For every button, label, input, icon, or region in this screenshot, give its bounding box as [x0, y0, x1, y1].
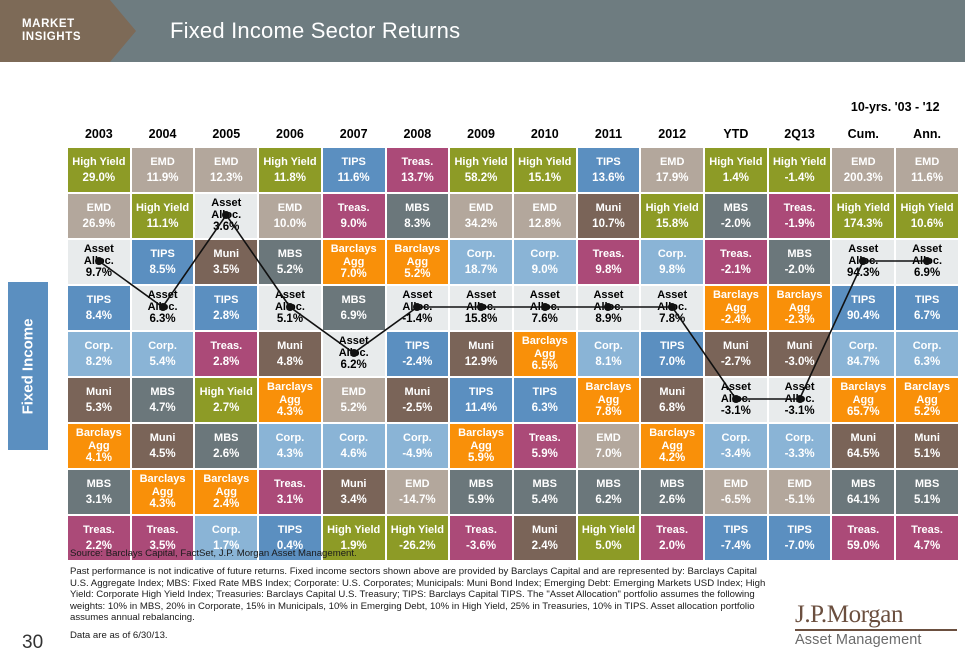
- cell-sector-name: MBS: [450, 478, 512, 491]
- cell-2007-5: AssetAlloc.6.2%: [323, 332, 385, 376]
- cell-2008-2: MBS8.3%: [387, 194, 449, 238]
- cell-return-value: 13.7%: [387, 172, 449, 185]
- cell-sector-name: BarclaysAgg: [68, 427, 130, 452]
- cell-sector-name: High Yield: [132, 202, 194, 215]
- cell-sector-name: BarclaysAgg: [132, 473, 194, 498]
- cell-sector-name: Muni: [132, 432, 194, 445]
- cell-YTD-3: Treas.-2.1%: [705, 240, 767, 284]
- table-row: High Yield29.0%EMD11.9%EMD12.3%High Yiel…: [68, 148, 958, 192]
- cell-sector-name: Corp.: [132, 340, 194, 353]
- column-header-ytd: YTD: [705, 117, 767, 146]
- cell-return-value: 8.4%: [68, 310, 130, 323]
- cell-return-value: 9.7%: [68, 267, 130, 280]
- cell-sector-name: TIPS: [514, 386, 576, 399]
- column-header-2q13: 2Q13: [769, 117, 831, 146]
- cell-2006-3: MBS5.2%: [259, 240, 321, 284]
- cell-2008-7: Corp.-4.9%: [387, 424, 449, 468]
- cell-return-value: 5.3%: [68, 402, 130, 415]
- cell-2009-2: EMD34.2%: [450, 194, 512, 238]
- cell-2011-3: Treas.9.8%: [578, 240, 640, 284]
- cell-sector-name: EMD: [132, 156, 194, 169]
- cell-2005-1: EMD12.3%: [195, 148, 257, 192]
- cell-return-value: 4.8%: [259, 356, 321, 369]
- cell-return-value: 11.8%: [259, 172, 321, 185]
- cell-2008-4: AssetAlloc.-1.4%: [387, 286, 449, 330]
- cell-return-value: 5.2%: [259, 264, 321, 277]
- cell-return-value: 6.7%: [896, 310, 958, 323]
- cell-return-value: -2.0%: [769, 264, 831, 277]
- cell-sector-name: BarclaysAgg: [578, 381, 640, 406]
- cell-return-value: 4.2%: [641, 452, 703, 465]
- cell-return-value: 94.3%: [832, 267, 894, 280]
- cell-sector-name: High Yield: [450, 156, 512, 169]
- cell-2003-4: TIPS8.4%: [68, 286, 130, 330]
- cell-sector-name: MBS: [259, 248, 321, 261]
- asset-allocation-marker-dot: [732, 395, 740, 403]
- cell-sector-name: BarclaysAgg: [323, 243, 385, 268]
- cell-2003-6: Muni5.3%: [68, 378, 130, 422]
- cell-sector-name: Corp.: [68, 340, 130, 353]
- cell-2007-2: Treas.9.0%: [323, 194, 385, 238]
- cell-return-value: -3.1%: [769, 405, 831, 418]
- cell-sector-name: Muni: [896, 432, 958, 445]
- cell-Cum.-7: Muni64.5%: [832, 424, 894, 468]
- cell-2Q13-8: EMD-5.1%: [769, 470, 831, 514]
- cell-YTD-6: AssetAlloc.-3.1%: [705, 378, 767, 422]
- cell-return-value: 6.8%: [641, 402, 703, 415]
- cell-return-value: 26.9%: [68, 218, 130, 231]
- cell-2Q13-9: TIPS-7.0%: [769, 516, 831, 560]
- cell-Cum.-6: BarclaysAgg65.7%: [832, 378, 894, 422]
- cell-sector-name: High Yield: [514, 156, 576, 169]
- cell-sector-name: TIPS: [195, 294, 257, 307]
- column-header-ann-: Ann.: [896, 117, 958, 146]
- cell-sector-name: Corp.: [578, 340, 640, 353]
- cell-2005-4: TIPS2.8%: [195, 286, 257, 330]
- cell-sector-name: MBS: [68, 478, 130, 491]
- cell-Ann.-7: Muni5.1%: [896, 424, 958, 468]
- cell-return-value: 18.7%: [450, 264, 512, 277]
- cell-return-value: -2.1%: [705, 264, 767, 277]
- cell-2008-3: BarclaysAgg5.2%: [387, 240, 449, 284]
- cell-return-value: 4.5%: [132, 448, 194, 461]
- cell-return-value: 10.6%: [896, 218, 958, 231]
- cell-2010-1: High Yield15.1%: [514, 148, 576, 192]
- cell-sector-name: EMD: [514, 202, 576, 215]
- returns-table: 10-yrs. '03 - '12 2003200420052006200720…: [66, 88, 960, 562]
- cell-return-value: 1.4%: [705, 172, 767, 185]
- cell-2012-4: AssetAlloc.7.8%: [641, 286, 703, 330]
- cell-sector-name: TIPS: [132, 248, 194, 261]
- cell-return-value: 5.2%: [387, 268, 449, 281]
- cell-2Q13-6: AssetAlloc.-3.1%: [769, 378, 831, 422]
- cell-return-value: 9.0%: [514, 264, 576, 277]
- cell-sector-name: MBS: [705, 202, 767, 215]
- cell-2007-3: BarclaysAgg7.0%: [323, 240, 385, 284]
- cell-return-value: 4.7%: [132, 402, 194, 415]
- cell-sector-name: TIPS: [832, 294, 894, 307]
- cell-return-value: 84.7%: [832, 356, 894, 369]
- cell-Ann.-9: Treas.4.7%: [896, 516, 958, 560]
- cell-YTD-2: MBS-2.0%: [705, 194, 767, 238]
- cell-return-value: 5.2%: [323, 402, 385, 415]
- cell-return-value: 2.6%: [195, 448, 257, 461]
- cell-2Q13-1: High Yield-1.4%: [769, 148, 831, 192]
- cell-2011-2: Muni10.7%: [578, 194, 640, 238]
- cell-sector-name: TIPS: [259, 524, 321, 537]
- cell-2005-8: BarclaysAgg2.4%: [195, 470, 257, 514]
- header-band: MARKET INSIGHTS Fixed Income Sector Retu…: [0, 0, 965, 62]
- cell-sector-name: BarclaysAgg: [259, 381, 321, 406]
- cell-return-value: -6.5%: [705, 494, 767, 507]
- cell-return-value: 4.1%: [68, 452, 130, 465]
- cell-sector-name: EMD: [195, 156, 257, 169]
- cell-Cum.-9: Treas.59.0%: [832, 516, 894, 560]
- cell-2004-4: AssetAlloc.6.3%: [132, 286, 194, 330]
- cell-Cum.-1: EMD200.3%: [832, 148, 894, 192]
- cell-sector-name: EMD: [641, 156, 703, 169]
- cell-return-value: -2.4%: [705, 314, 767, 327]
- cell-return-value: 4.3%: [259, 448, 321, 461]
- cell-2004-7: Muni4.5%: [132, 424, 194, 468]
- cell-2006-6: BarclaysAgg4.3%: [259, 378, 321, 422]
- cell-sector-name: Corp.: [259, 432, 321, 445]
- footnote-data-as-of: Data are as of 6/30/13.: [70, 630, 770, 641]
- cell-2008-6: Muni-2.5%: [387, 378, 449, 422]
- cell-sector-name: Muni: [641, 386, 703, 399]
- cell-return-value: -1.9%: [769, 218, 831, 231]
- cell-sector-name: EMD: [387, 478, 449, 491]
- cell-return-value: -3.3%: [769, 448, 831, 461]
- cell-return-value: 6.9%: [896, 267, 958, 280]
- cell-2010-2: EMD12.8%: [514, 194, 576, 238]
- badge-line-2: INSIGHTS: [22, 31, 110, 44]
- cell-return-value: -2.4%: [387, 356, 449, 369]
- cell-2011-5: Corp.8.1%: [578, 332, 640, 376]
- cell-return-value: 12.8%: [514, 218, 576, 231]
- cell-return-value: 2.8%: [195, 310, 257, 323]
- cell-sector-name: MBS: [387, 202, 449, 215]
- cell-return-value: 6.3%: [132, 313, 194, 326]
- cell-sector-name: Treas.: [578, 248, 640, 261]
- badge-arrow-icon: [110, 0, 136, 62]
- cell-sector-name: Treas.: [450, 524, 512, 537]
- cell-return-value: 64.5%: [832, 448, 894, 461]
- cell-sector-name: EMD: [578, 432, 640, 445]
- cell-return-value: 5.9%: [450, 494, 512, 507]
- column-header-2004: 2004: [132, 117, 194, 146]
- cell-sector-name: MBS: [832, 478, 894, 491]
- cell-return-value: 9.8%: [578, 264, 640, 277]
- cell-Cum.-5: Corp.84.7%: [832, 332, 894, 376]
- column-header-2009: 2009: [450, 117, 512, 146]
- badge-line-1: MARKET: [22, 18, 110, 31]
- cell-2006-2: EMD10.0%: [259, 194, 321, 238]
- cell-2005-5: Treas.2.8%: [195, 332, 257, 376]
- column-header-2003: 2003: [68, 117, 130, 146]
- cell-return-value: 5.1%: [896, 494, 958, 507]
- cell-return-value: 5.4%: [132, 356, 194, 369]
- cell-Cum.-4: TIPS90.4%: [832, 286, 894, 330]
- column-header-cum-: Cum.: [832, 117, 894, 146]
- column-header-row: 2003200420052006200720082009201020112012…: [68, 117, 958, 146]
- cell-Cum.-8: MBS64.1%: [832, 470, 894, 514]
- cell-YTD-5: Muni-2.7%: [705, 332, 767, 376]
- asset-allocation-marker-dot: [95, 257, 103, 265]
- cell-return-value: 6.3%: [514, 402, 576, 415]
- cell-return-value: 3.4%: [323, 494, 385, 507]
- cell-return-value: 29.0%: [68, 172, 130, 185]
- cell-Ann.-2: High Yield10.6%: [896, 194, 958, 238]
- cell-YTD-1: High Yield1.4%: [705, 148, 767, 192]
- cell-sector-name: EMD: [323, 386, 385, 399]
- cell-sector-name: MBS: [896, 478, 958, 491]
- table-row: Corp.8.2%Corp.5.4%Treas.2.8%Muni4.8%Asse…: [68, 332, 958, 376]
- footnote-source: Source: Barclays Capital, FactSet, J.P. …: [70, 548, 770, 559]
- cell-sector-name: EMD: [896, 156, 958, 169]
- group-header-row: 10-yrs. '03 - '12: [68, 90, 958, 115]
- cell-sector-name: TIPS: [896, 294, 958, 307]
- cell-2003-8: MBS3.1%: [68, 470, 130, 514]
- column-header-2008: 2008: [387, 117, 449, 146]
- cell-2012-1: EMD17.9%: [641, 148, 703, 192]
- table-head: 10-yrs. '03 - '12 2003200420052006200720…: [68, 90, 958, 146]
- sidebar-tab-label: Fixed Income: [20, 318, 37, 414]
- cell-sector-name: EMD: [259, 202, 321, 215]
- asset-allocation-marker-dot: [923, 257, 931, 265]
- cell-return-value: -2.3%: [769, 314, 831, 327]
- cell-return-value: 13.6%: [578, 172, 640, 185]
- cell-return-value: 9.0%: [323, 218, 385, 231]
- cell-sector-name: High Yield: [896, 202, 958, 215]
- cell-sector-name: Treas.: [387, 156, 449, 169]
- footnotes: Source: Barclays Capital, FactSet, J.P. …: [70, 548, 770, 642]
- cell-YTD-8: EMD-6.5%: [705, 470, 767, 514]
- cell-2011-7: EMD7.0%: [578, 424, 640, 468]
- cell-sector-name: Corp.: [514, 248, 576, 261]
- cell-Ann.-8: MBS5.1%: [896, 470, 958, 514]
- cell-return-value: -4.9%: [387, 448, 449, 461]
- cell-return-value: 2.7%: [195, 402, 257, 415]
- cell-return-value: 6.2%: [578, 494, 640, 507]
- cell-return-value: 65.7%: [832, 406, 894, 419]
- footnote-disclosure: Past performance is not indicative of fu…: [70, 566, 770, 623]
- cell-2012-8: MBS2.6%: [641, 470, 703, 514]
- cell-sector-name: EMD: [68, 202, 130, 215]
- asset-allocation-marker-dot: [541, 303, 549, 311]
- cell-sector-name: Muni: [323, 478, 385, 491]
- cell-sector-name: TIPS: [641, 340, 703, 353]
- group-header-10yr: 10-yrs. '03 - '12: [832, 90, 958, 115]
- cell-return-value: -3.0%: [769, 356, 831, 369]
- cell-sector-name: EMD: [769, 478, 831, 491]
- cell-sector-name: TIPS: [68, 294, 130, 307]
- cell-2008-8: EMD-14.7%: [387, 470, 449, 514]
- cell-sector-name: Treas.: [641, 524, 703, 537]
- sidebar-tab-fixed-income[interactable]: Fixed Income: [8, 282, 48, 450]
- cell-sector-name: MBS: [195, 432, 257, 445]
- cell-return-value: -3.1%: [705, 405, 767, 418]
- cell-return-value: 3.1%: [259, 494, 321, 507]
- cell-sector-name: Treas.: [68, 524, 130, 537]
- cell-return-value: 64.1%: [832, 494, 894, 507]
- cell-return-value: 11.6%: [323, 172, 385, 185]
- cell-return-value: 7.0%: [323, 268, 385, 281]
- cell-YTD-7: Corp.-3.4%: [705, 424, 767, 468]
- cell-return-value: -2.0%: [705, 218, 767, 231]
- cell-sector-name: Corp.: [450, 248, 512, 261]
- cell-2005-6: High Yield2.7%: [195, 378, 257, 422]
- cell-sector-name: MBS: [323, 294, 385, 307]
- cell-2004-2: High Yield11.1%: [132, 194, 194, 238]
- cell-2004-8: BarclaysAgg4.3%: [132, 470, 194, 514]
- cell-sector-name: EMD: [832, 156, 894, 169]
- table-row: BarclaysAgg4.1%Muni4.5%MBS2.6%Corp.4.3%C…: [68, 424, 958, 468]
- cell-sector-name: Treas.: [896, 524, 958, 537]
- cell-return-value: 8.3%: [387, 218, 449, 231]
- cell-return-value: 7.0%: [578, 448, 640, 461]
- cell-sector-name: TIPS: [450, 386, 512, 399]
- cell-return-value: 4.3%: [259, 406, 321, 419]
- cell-2003-1: High Yield29.0%: [68, 148, 130, 192]
- cell-return-value: 7.0%: [641, 356, 703, 369]
- cell-2007-6: EMD5.2%: [323, 378, 385, 422]
- cell-return-value: 5.9%: [450, 452, 512, 465]
- cell-return-value: 2.4%: [195, 498, 257, 511]
- cell-2011-4: AssetAlloc.8.9%: [578, 286, 640, 330]
- cell-return-value: 6.2%: [323, 359, 385, 372]
- cell-return-value: 3.5%: [195, 264, 257, 277]
- cell-sector-name: BarclaysAgg: [832, 381, 894, 406]
- cell-return-value: 12.9%: [450, 356, 512, 369]
- cell-return-value: 4.6%: [323, 448, 385, 461]
- cell-sector-name: Muni: [514, 524, 576, 537]
- column-header-2006: 2006: [259, 117, 321, 146]
- cell-sector-name: TIPS: [387, 340, 449, 353]
- cell-sector-name: BarclaysAgg: [769, 289, 831, 314]
- cell-2004-5: Corp.5.4%: [132, 332, 194, 376]
- page-title: Fixed Income Sector Returns: [170, 0, 460, 62]
- cell-2007-4: MBS6.9%: [323, 286, 385, 330]
- column-header-2012: 2012: [641, 117, 703, 146]
- cell-sector-name: Muni: [769, 340, 831, 353]
- cell-Ann.-5: Corp.6.3%: [896, 332, 958, 376]
- cell-sector-name: Treas.: [832, 524, 894, 537]
- table-row: EMD26.9%High Yield11.1%AssetAlloc.3.6%EM…: [68, 194, 958, 238]
- cell-sector-name: High Yield: [68, 156, 130, 169]
- cell-sector-name: BarclaysAgg: [450, 427, 512, 452]
- cell-sector-name: EMD: [705, 478, 767, 491]
- cell-sector-name: High Yield: [832, 202, 894, 215]
- cell-return-value: 8.2%: [68, 356, 130, 369]
- cell-2003-3: AssetAlloc.9.7%: [68, 240, 130, 284]
- asset-allocation-marker-dot: [350, 349, 358, 357]
- cell-2012-7: BarclaysAgg4.2%: [641, 424, 703, 468]
- cell-sector-name: Treas.: [769, 202, 831, 215]
- asset-allocation-marker-dot: [286, 303, 294, 311]
- cell-2007-1: TIPS11.6%: [323, 148, 385, 192]
- cell-return-value: 11.9%: [132, 172, 194, 185]
- cell-sector-name: High Yield: [259, 156, 321, 169]
- cell-sector-name: BarclaysAgg: [705, 289, 767, 314]
- cell-2004-3: TIPS8.5%: [132, 240, 194, 284]
- cell-return-value: 8.1%: [578, 356, 640, 369]
- cell-2011-6: BarclaysAgg7.8%: [578, 378, 640, 422]
- cell-2007-7: Corp.4.6%: [323, 424, 385, 468]
- cell-2008-1: Treas.13.7%: [387, 148, 449, 192]
- cell-2011-1: TIPS13.6%: [578, 148, 640, 192]
- cell-sector-name: Corp.: [832, 340, 894, 353]
- cell-Cum.-2: High Yield174.3%: [832, 194, 894, 238]
- column-header-2005: 2005: [195, 117, 257, 146]
- cell-sector-name: High Yield: [705, 156, 767, 169]
- cell-return-value: 2.8%: [195, 356, 257, 369]
- cell-2005-3: Muni3.5%: [195, 240, 257, 284]
- cell-return-value: 6.3%: [896, 356, 958, 369]
- cell-sector-name: High Yield: [641, 202, 703, 215]
- cell-sector-name: Muni: [68, 386, 130, 399]
- cell-return-value: 34.2%: [450, 218, 512, 231]
- cell-return-value: 12.3%: [195, 172, 257, 185]
- cell-return-value: 15.8%: [641, 218, 703, 231]
- cell-return-value: -1.4%: [387, 313, 449, 326]
- cell-sector-name: Corp.: [387, 432, 449, 445]
- cell-return-value: 200.3%: [832, 172, 894, 185]
- cell-return-value: 4.3%: [132, 498, 194, 511]
- cell-return-value: 11.1%: [132, 218, 194, 231]
- cell-2Q13-4: BarclaysAgg-2.3%: [769, 286, 831, 330]
- cell-return-value: 11.4%: [450, 402, 512, 415]
- cell-2010-5: BarclaysAgg6.5%: [514, 332, 576, 376]
- cell-sector-name: TIPS: [769, 524, 831, 537]
- cell-return-value: 58.2%: [450, 172, 512, 185]
- cell-return-value: 2.6%: [641, 494, 703, 507]
- cell-2003-2: EMD26.9%: [68, 194, 130, 238]
- cell-return-value: 15.1%: [514, 172, 576, 185]
- returns-table-container: 10-yrs. '03 - '12 2003200420052006200720…: [66, 88, 964, 562]
- cell-2003-7: BarclaysAgg4.1%: [68, 424, 130, 468]
- cell-2009-8: MBS5.9%: [450, 470, 512, 514]
- cell-return-value: 5.2%: [896, 406, 958, 419]
- cell-return-value: -2.7%: [705, 356, 767, 369]
- cell-return-value: 3.6%: [195, 221, 257, 234]
- cell-return-value: -2.5%: [387, 402, 449, 415]
- cell-sector-name: High Yield: [195, 386, 257, 399]
- cell-return-value: 4.7%: [896, 540, 958, 553]
- cell-2010-8: MBS5.4%: [514, 470, 576, 514]
- cell-sector-name: TIPS: [705, 524, 767, 537]
- asset-allocation-marker-dot: [796, 395, 804, 403]
- cell-return-value: 59.0%: [832, 540, 894, 553]
- cell-2011-8: MBS6.2%: [578, 470, 640, 514]
- cell-2006-1: High Yield11.8%: [259, 148, 321, 192]
- cell-return-value: 15.8%: [450, 313, 512, 326]
- cell-sector-name: MBS: [132, 386, 194, 399]
- cell-2004-6: MBS4.7%: [132, 378, 194, 422]
- cell-2Q13-5: Muni-3.0%: [769, 332, 831, 376]
- cell-2006-4: AssetAlloc.5.1%: [259, 286, 321, 330]
- cell-2009-6: TIPS11.4%: [450, 378, 512, 422]
- cell-2009-3: Corp.18.7%: [450, 240, 512, 284]
- cell-return-value: 174.3%: [832, 218, 894, 231]
- cell-sector-name: MBS: [514, 478, 576, 491]
- cell-Ann.-1: EMD11.6%: [896, 148, 958, 192]
- cell-return-value: 6.9%: [323, 310, 385, 323]
- cell-2006-8: Treas.3.1%: [259, 470, 321, 514]
- cell-return-value: 10.0%: [259, 218, 321, 231]
- cell-2012-3: Corp.9.8%: [641, 240, 703, 284]
- cell-2012-2: High Yield15.8%: [641, 194, 703, 238]
